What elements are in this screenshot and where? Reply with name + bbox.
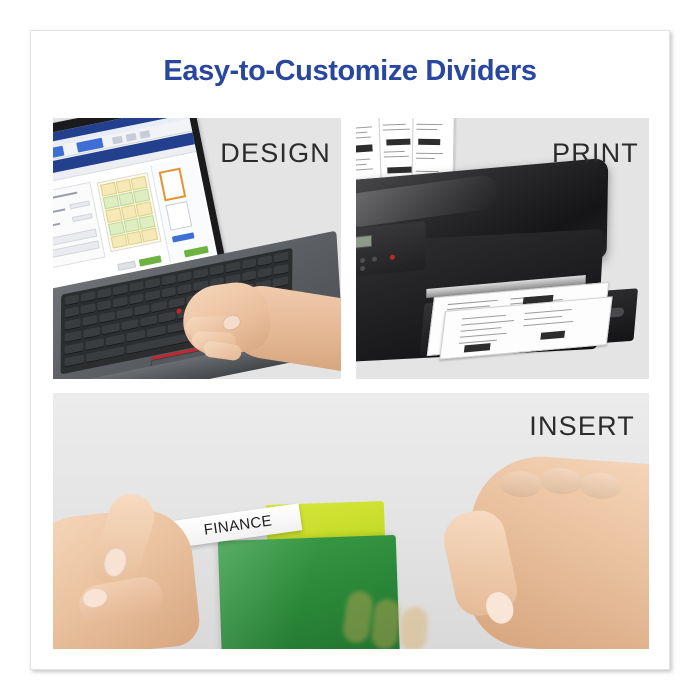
knuckle — [539, 467, 583, 496]
panel-print: PRINT — [356, 118, 649, 379]
divider-template-grid[interactable] — [97, 172, 162, 252]
left-hand — [53, 485, 233, 649]
preview-thumbnail-selected[interactable] — [159, 168, 187, 202]
field-input-1[interactable] — [69, 200, 90, 209]
template-cell[interactable] — [111, 234, 128, 249]
lid-highlight — [356, 174, 497, 229]
page-title: Easy-to-Customize Dividers — [31, 55, 669, 88]
cancel-button[interactable] — [117, 260, 136, 270]
knuckle — [579, 471, 623, 500]
panel-insert: FINANCE INSERT — [53, 393, 649, 649]
field-input-2[interactable] — [72, 213, 93, 222]
template-cell[interactable] — [126, 231, 143, 246]
next-button[interactable] — [139, 255, 162, 266]
divider-sheen — [218, 538, 326, 649]
printer-control-panel[interactable] — [356, 221, 426, 279]
right-hand — [431, 439, 649, 649]
control-button[interactable] — [372, 256, 377, 262]
field-label-1 — [53, 208, 65, 215]
panel-design: DESIGN — [53, 118, 341, 379]
properties-panel — [53, 182, 106, 270]
finger — [202, 340, 242, 361]
template-cell[interactable] — [141, 227, 158, 242]
panel-label-insert: INSERT — [529, 411, 635, 442]
knuckle — [499, 470, 543, 499]
field-label-2 — [53, 223, 60, 229]
control-button[interactable] — [360, 258, 365, 264]
panel-label-print: PRINT — [552, 138, 639, 169]
preview-action-button[interactable] — [172, 232, 195, 242]
panel-label-design: DESIGN — [220, 138, 331, 169]
panel-heading — [53, 192, 77, 200]
preview-thumbnail[interactable] — [165, 201, 192, 231]
control-button[interactable] — [360, 266, 365, 272]
finger-through-divider — [399, 606, 428, 649]
hand-on-trackpad — [171, 272, 341, 379]
fingernail — [100, 545, 130, 580]
product-image-card: Easy-to-Customize Dividers — [30, 30, 670, 670]
power-button[interactable] — [390, 254, 395, 260]
printer-lcd-display — [356, 235, 372, 250]
